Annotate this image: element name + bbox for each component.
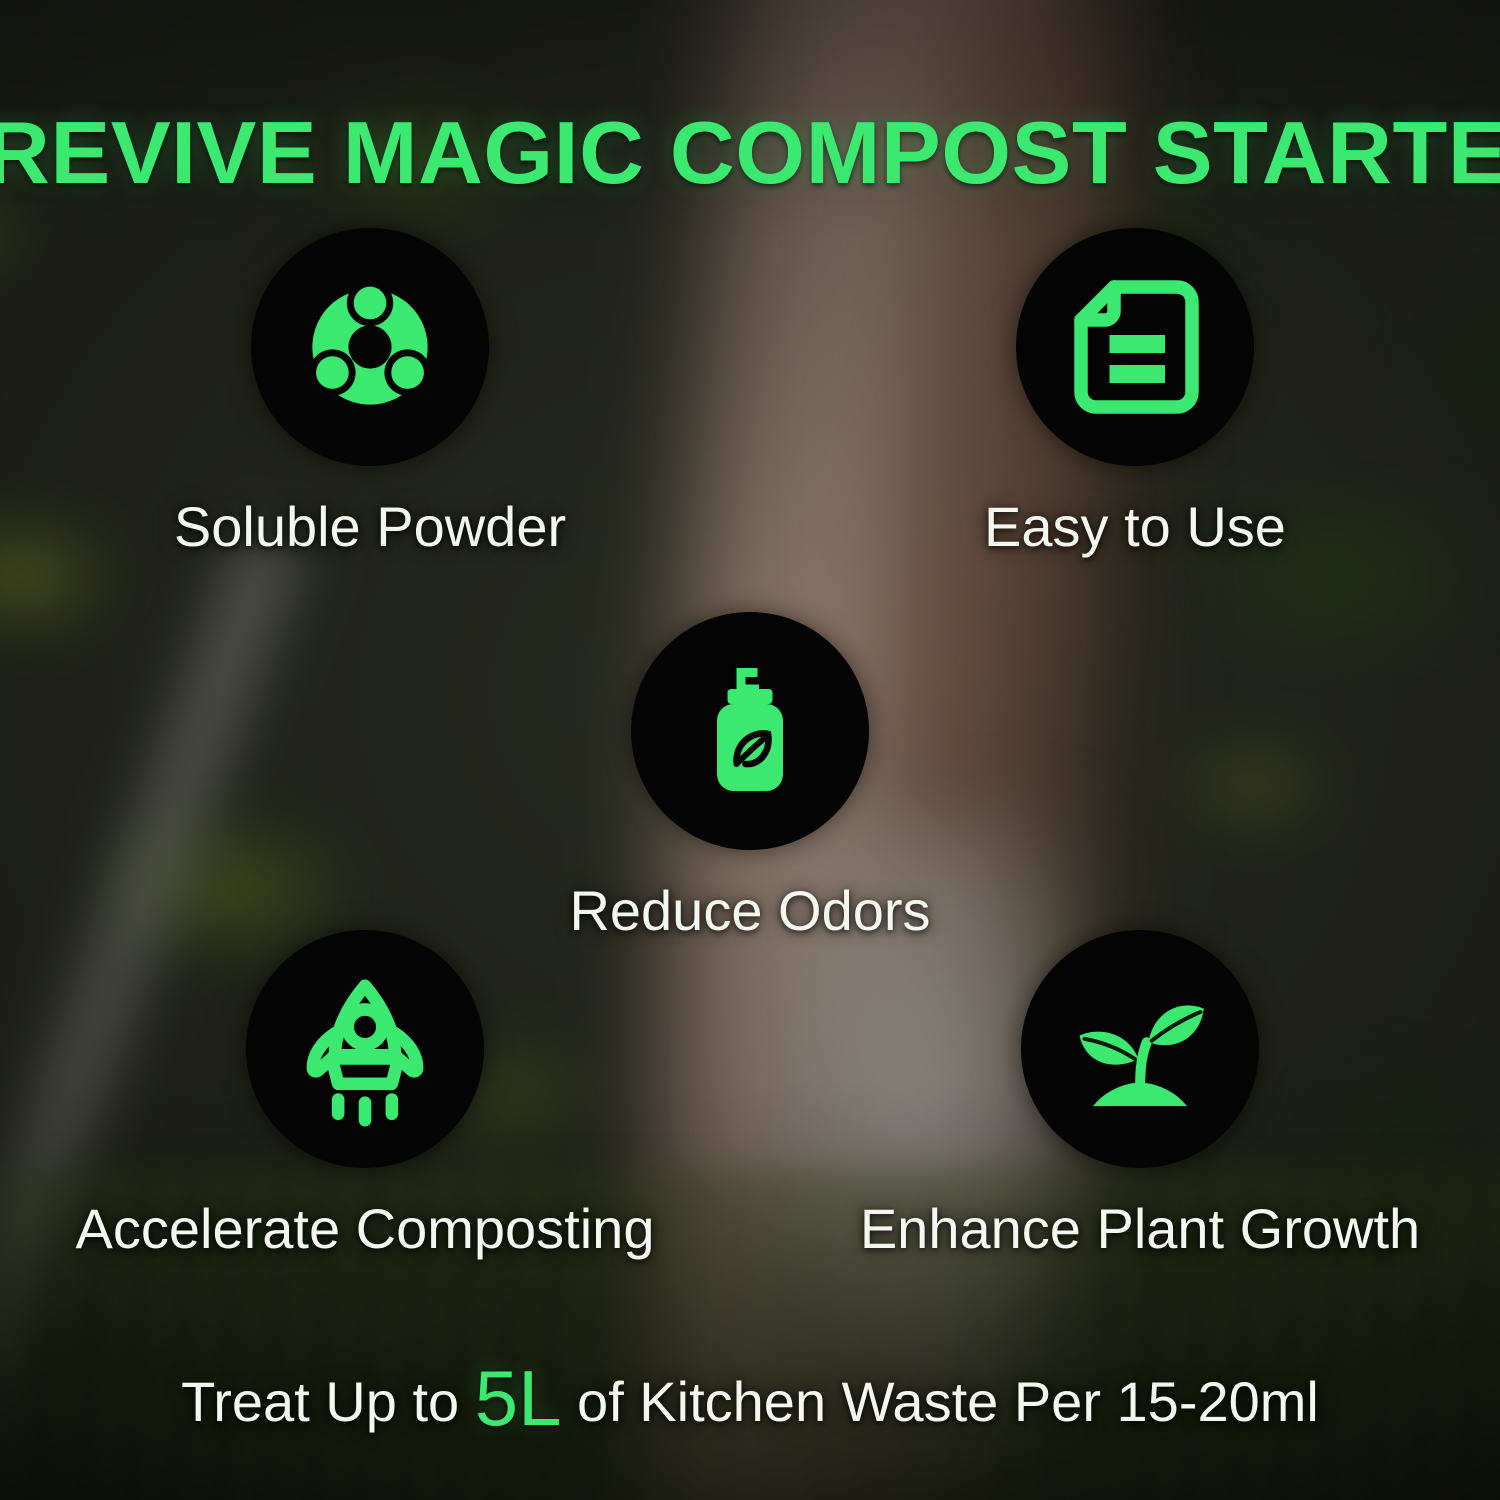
feature-reduce-odors: Reduce Odors — [450, 612, 1050, 943]
feature-enhance-plant-growth: Enhance Plant Growth — [830, 930, 1450, 1261]
feature-label: Accelerate Composting — [76, 1196, 655, 1261]
rocket-icon — [286, 970, 444, 1128]
feature-icon-badge — [1021, 930, 1259, 1168]
document-instructions-icon — [1060, 272, 1210, 422]
dosage-footnote: Treat Up to 5L of Kitchen Waste Per 15-2… — [0, 1369, 1500, 1434]
product-feature-poster: REVIVE MAGIC COMPOST STARTER — [0, 0, 1500, 1500]
feature-label: Enhance Plant Growth — [860, 1196, 1420, 1261]
page-title: REVIVE MAGIC COMPOST STARTER — [0, 107, 1500, 199]
feature-icon-badge — [1016, 228, 1254, 466]
feature-soluble-powder: Soluble Powder — [65, 228, 675, 559]
feature-accelerate-composting: Accelerate Composting — [55, 930, 675, 1261]
footnote-lead: Treat Up to — [181, 1370, 475, 1433]
footnote-amount: 5L — [475, 1354, 562, 1442]
molecule-particle-icon — [290, 267, 450, 427]
feature-label: Soluble Powder — [174, 494, 566, 559]
feature-icon-badge — [631, 612, 869, 850]
feature-icon-badge — [251, 228, 489, 466]
feature-easy-to-use: Easy to Use — [830, 228, 1440, 559]
footnote-tail: of Kitchen Waste Per 15-20ml — [561, 1370, 1318, 1433]
feature-label: Easy to Use — [984, 494, 1286, 559]
feature-icon-badge — [246, 930, 484, 1168]
seedling-sprout-icon — [1056, 965, 1224, 1133]
spray-bottle-leaf-icon — [675, 656, 825, 806]
